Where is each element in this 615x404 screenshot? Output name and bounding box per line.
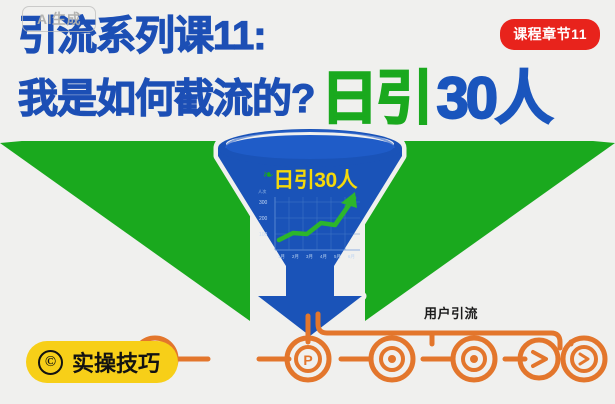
flow-label: 用户引流 [424,303,478,322]
ai-watermark: AI生成 [22,6,96,32]
headline-line-2: 我是如何截流的? 日引 30人 [18,66,550,119]
funnel-label: ❧日引30人 [212,164,408,194]
poster-canvas: AI生成 ❧日引30人 [0,0,615,404]
copyright-icon: © [38,350,63,375]
headline-line-1: 引流系列课11: [18,16,550,56]
leaf-icon: ❧ [263,167,273,182]
headline-emphasis-green: 日引 [320,72,430,125]
flow-node-4 [453,338,495,380]
svg-text:P: P [303,352,312,368]
chapter-badge: 课程章节11 [500,19,600,50]
flow-node-3 [371,338,413,380]
flow-node-6 [563,338,605,380]
tip-badge: © 实操技巧 [26,341,178,383]
headline-question-text: 我是如何截流的? [18,79,314,119]
tip-badge-label: 实操技巧 [72,346,160,378]
funnel-label-text: 日引30人 [273,169,357,192]
headline-emphasis-blue: 30人 [436,72,550,125]
headline-block: 引流系列课11: 我是如何截流的? 日引 30人 [18,16,550,119]
